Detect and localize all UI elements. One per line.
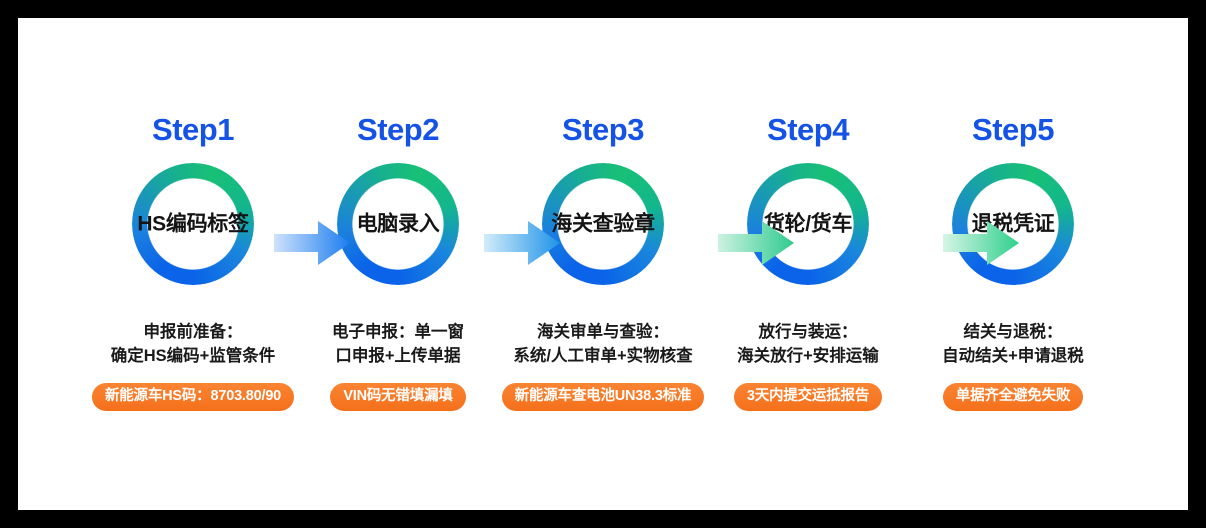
step-description-line1-4: 放行与装运： — [758, 323, 857, 341]
outer-frame: Step1 HS编码标签 申报前准备： 确定HS编码+监管条件 新能源车HS码：… — [0, 0, 1206, 528]
step-badge-3: 新能源车查电池UN38.3标准 — [502, 383, 705, 411]
step-badge-4: 3天内提交运抵报告 — [734, 383, 882, 411]
step-column-5: Step5 退税凭证 结关与退税： 自动结关+申请退税 单据齐全避免失败 — [911, 18, 1116, 411]
step-title-1: Step1 — [152, 114, 234, 145]
step-column-4: Step4 货轮/货车 放行与装运： 海关放行+安排运输 3天内提交运抵报告 — [706, 18, 911, 411]
step-description-2: 电子申报：单一窗 口申报+上传单据 — [332, 321, 464, 369]
arrow-step4-to-step5 — [943, 219, 1019, 267]
step-column-3: Step3 海关查验章 海关审单与查验： 系统/人工审单+实物核查 新能源车查电… — [501, 18, 706, 411]
step-description-1: 申报前准备： 确定HS编码+监管条件 — [111, 321, 276, 369]
infographic-canvas: Step1 HS编码标签 申报前准备： 确定HS编码+监管条件 新能源车HS码：… — [18, 18, 1188, 510]
step-badge-5: 单据齐全避免失败 — [943, 383, 1083, 411]
step-badge-1: 新能源车HS码：8703.80/90 — [92, 383, 294, 411]
step-circle-1: HS编码标签 — [132, 163, 254, 285]
step-description-line2-3: 系统/人工审单+实物核查 — [513, 345, 692, 369]
step-description-line2-1: 确定HS编码+监管条件 — [111, 345, 276, 369]
arrow-step2-to-step3 — [484, 219, 560, 267]
step-circle-2: 电脑录入 — [337, 163, 459, 285]
step-description-4: 放行与装运： 海关放行+安排运输 — [737, 321, 879, 369]
step-description-line2-4: 海关放行+安排运输 — [737, 345, 879, 369]
arrow-step1-to-step2 — [274, 219, 350, 267]
step-description-line2-2: 口申报+上传单据 — [332, 345, 464, 369]
step-description-line1-2: 电子申报：单一窗 — [332, 323, 464, 341]
step-column-2: Step2 电脑录入 电子申报：单一窗 口申报+上传单据 VIN码无错填漏填 — [296, 18, 501, 411]
step-column-1: Step1 HS编码标签 申报前准备： 确定HS编码+监管条件 新能源车HS码：… — [91, 18, 296, 411]
step-description-3: 海关审单与查验： 系统/人工审单+实物核查 — [513, 321, 692, 369]
step-title-3: Step3 — [562, 114, 644, 145]
step-title-4: Step4 — [767, 114, 849, 145]
step-title-2: Step2 — [357, 114, 439, 145]
step-description-line1-1: 申报前准备： — [144, 323, 243, 341]
step-description-line1-3: 海关审单与查验： — [537, 323, 669, 341]
step-description-line2-5: 自动结关+申请退税 — [942, 345, 1084, 369]
step-circle-label-1: HS编码标签 — [106, 212, 280, 235]
step-badge-2: VIN码无错填漏填 — [330, 383, 465, 411]
arrow-step3-to-step4 — [718, 219, 794, 267]
step-description-5: 结关与退税： 自动结关+申请退税 — [942, 321, 1084, 369]
step-circle-3: 海关查验章 — [542, 163, 664, 285]
step-title-5: Step5 — [972, 114, 1054, 145]
step-description-line1-5: 结关与退税： — [963, 323, 1062, 341]
